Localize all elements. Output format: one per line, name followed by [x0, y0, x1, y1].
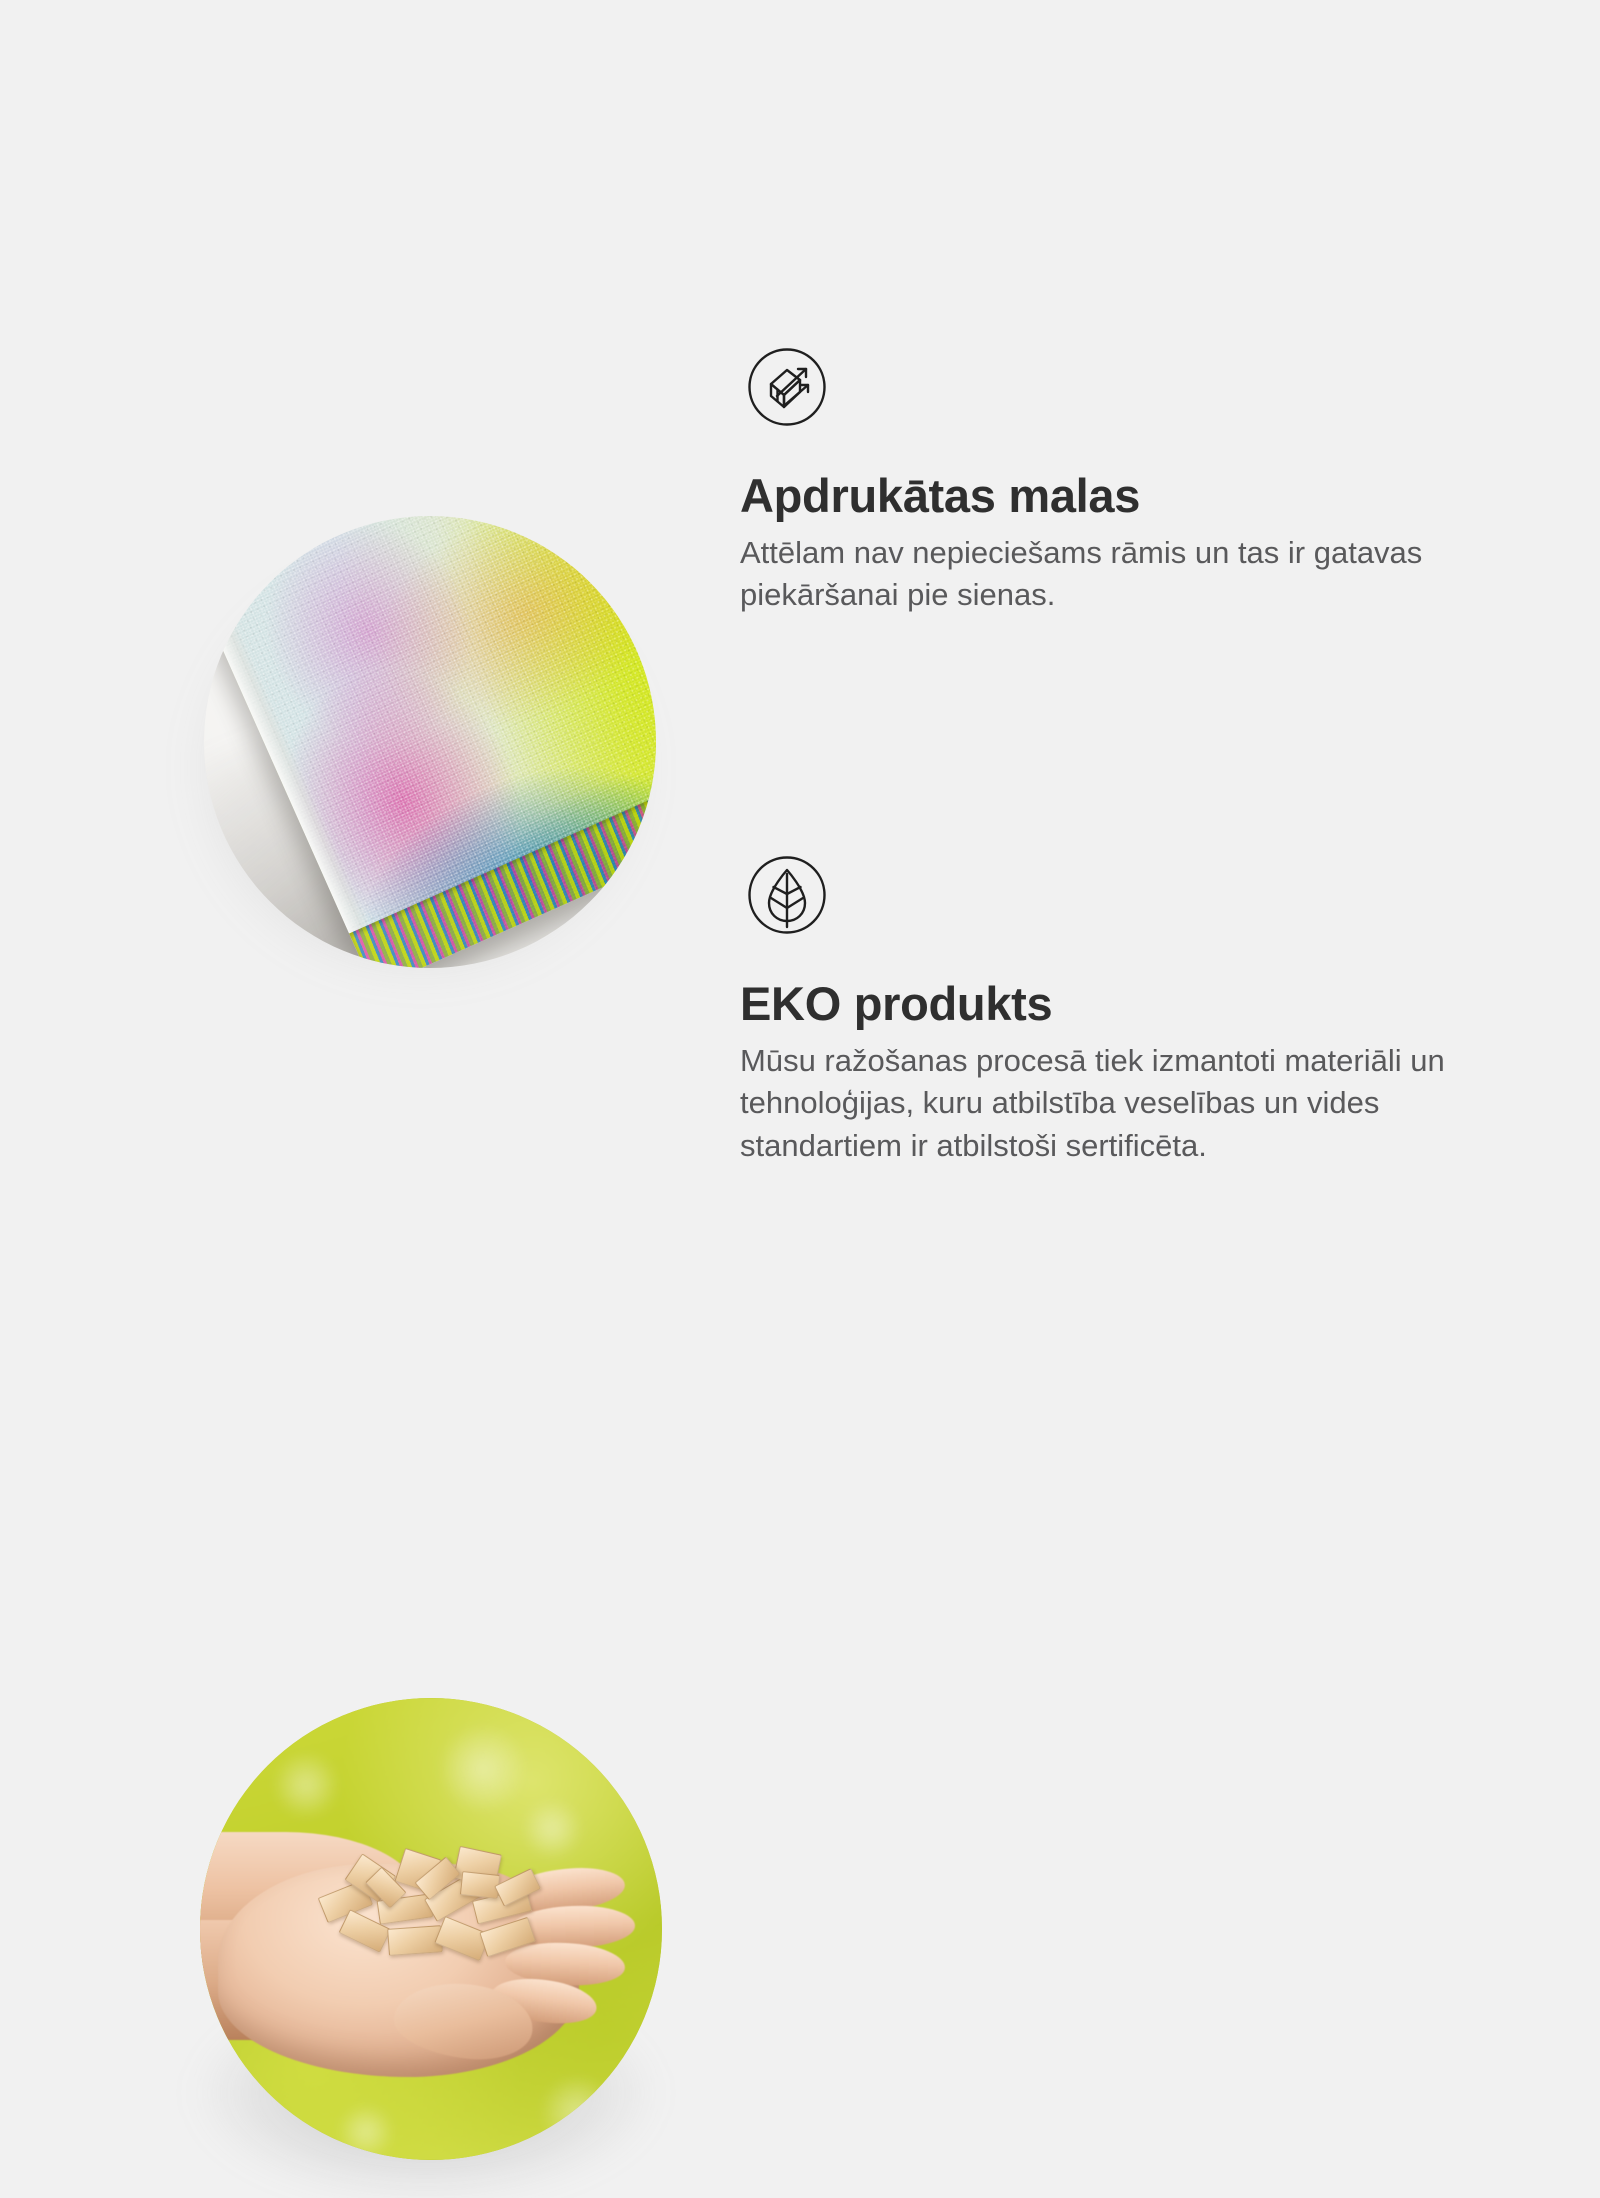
bokeh-highlight — [274, 1753, 338, 1817]
wood-chip — [479, 1916, 536, 1956]
feature-printed-edges-description: Attēlam nav nepieciešams rāmis un tas ir… — [740, 532, 1445, 618]
feature-printed-edges-title: Apdrukātas malas — [740, 470, 1445, 522]
feature-eco-product: EKO produkts Mūsu ražošanas procesā tiek… — [0, 838, 1565, 1338]
feature-eco-text: EKO produkts Mūsu ražošanas procesā tiek… — [740, 838, 1565, 1168]
feature-printed-edges: Apdrukātas malas Attēlam nav nepieciešam… — [0, 248, 1565, 748]
bokeh-highlight — [440, 1726, 526, 1812]
feature-eco-description: Mūsu ražošanas procesā tiek izmantoti ma… — [740, 1040, 1445, 1168]
hands-wood-chips-photo — [200, 1698, 662, 2160]
product-feature-page: Apdrukātas malas Attēlam nav nepieciešam… — [0, 0, 1600, 1600]
feature-printed-edges-media — [0, 248, 740, 748]
leaf-icon — [740, 848, 834, 942]
bokeh-highlight — [542, 2077, 612, 2147]
wood-chip-pile — [311, 1832, 570, 1980]
feature-eco-media — [0, 838, 740, 1338]
bokeh-highlight — [339, 2105, 393, 2159]
canvas-wrap-arrows-icon — [740, 340, 834, 434]
feature-printed-edges-text: Apdrukātas malas Attēlam nav nepieciešam… — [740, 248, 1565, 617]
feature-eco-title: EKO produkts — [740, 978, 1445, 1030]
